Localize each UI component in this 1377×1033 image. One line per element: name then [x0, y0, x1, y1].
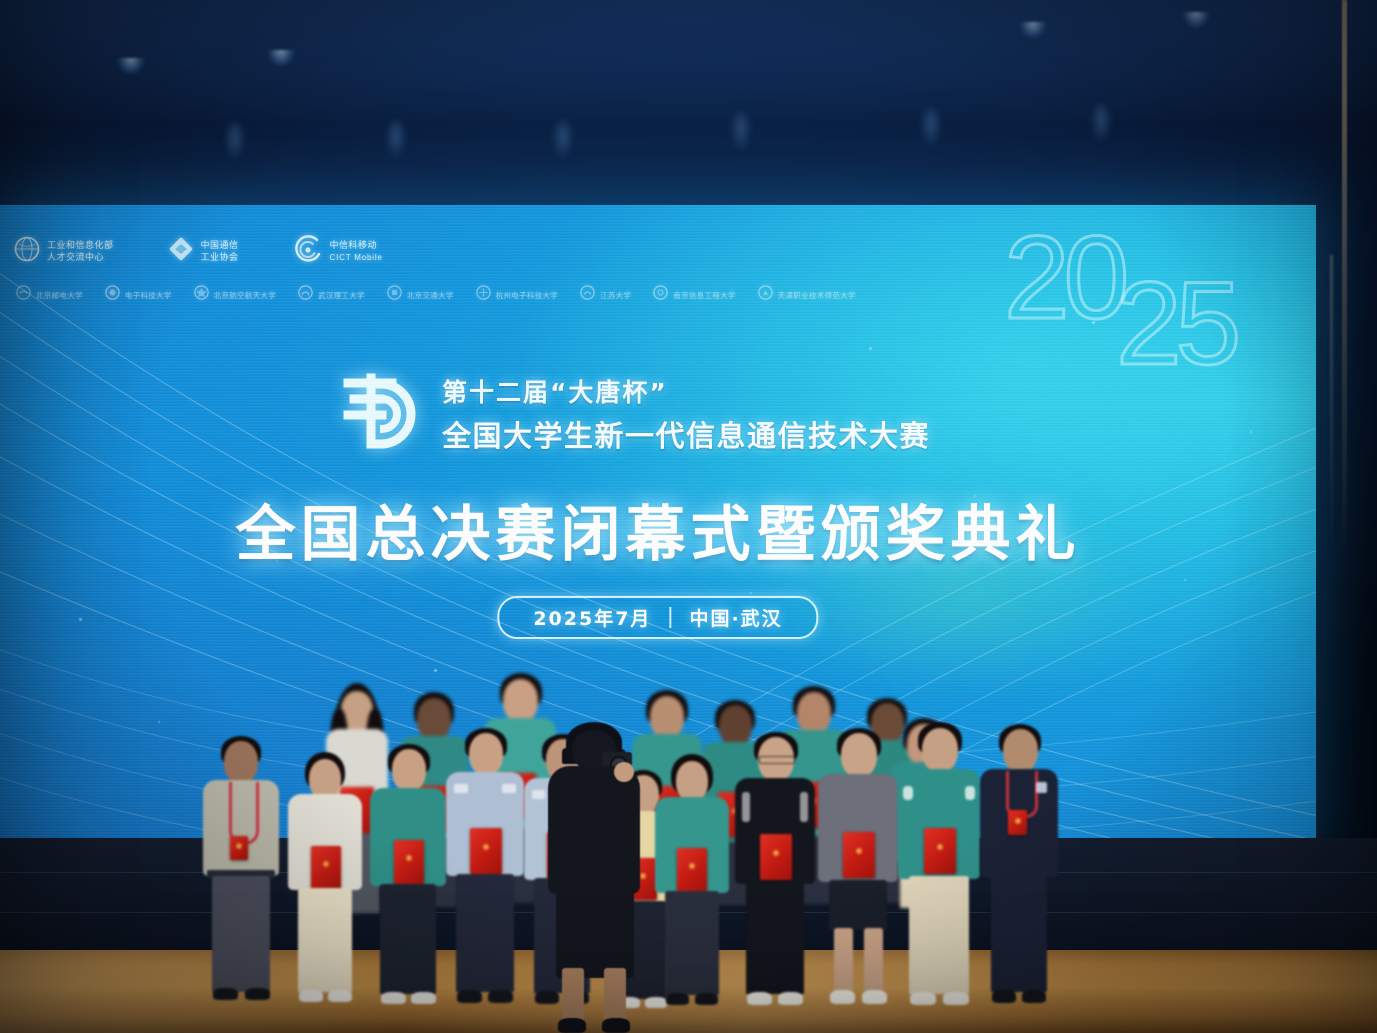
badge-card — [230, 836, 248, 860]
photographer-with-camera — [540, 716, 660, 1033]
award-certificate — [843, 832, 875, 878]
award-certificate — [470, 828, 502, 874]
award-recipient — [288, 752, 362, 1004]
award-certificate — [924, 828, 956, 874]
award-certificate — [760, 834, 792, 880]
staff-in-navy — [980, 724, 1058, 1006]
award-recipient-black — [735, 732, 815, 1008]
award-recipient-uniform — [446, 728, 524, 1006]
award-recipient-grey — [818, 728, 898, 1008]
ceremony-photo: 20 25 工业和信息化部 人才交流 — [0, 0, 1377, 1033]
people-group — [0, 0, 1377, 1033]
award-recipient — [898, 722, 980, 1008]
award-certificate — [394, 840, 424, 884]
badge-card — [1008, 810, 1027, 835]
award-certificate — [311, 846, 341, 890]
award-certificate — [677, 848, 707, 892]
official-in-grey-shirt — [203, 736, 279, 1001]
award-recipient — [370, 744, 446, 1006]
award-recipient — [655, 754, 729, 1006]
